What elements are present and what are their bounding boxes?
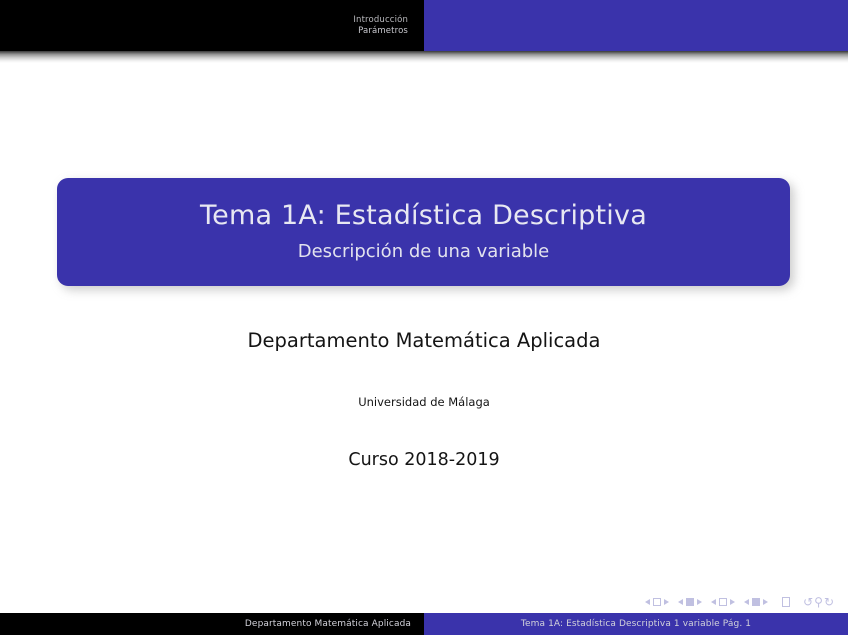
forward-arrow-icon[interactable]: ↻: [824, 596, 834, 608]
footline-bar: Departamento Matemática Aplicada Tema 1A…: [0, 613, 848, 635]
left-arrow-icon[interactable]: [645, 599, 650, 605]
subsection-square-icon[interactable]: [752, 598, 760, 606]
institute-name: Universidad de Málaga: [0, 394, 848, 410]
search-icon[interactable]: ⚲: [814, 596, 823, 608]
footline-author-panel: Departamento Matemática Aplicada: [0, 613, 424, 635]
headline-accent-panel: [424, 0, 848, 51]
title-box: Tema 1A: Estadística Descriptiva Descrip…: [57, 178, 790, 286]
course-date: Curso 2018-2019: [0, 448, 848, 472]
slide-square-filled-icon[interactable]: [686, 598, 694, 606]
frame-square-icon[interactable]: [719, 598, 727, 606]
headline-section-introduccion[interactable]: Introducción: [353, 15, 408, 26]
author-name: Departamento Matemática Aplicada: [0, 328, 848, 354]
back-arrow-icon[interactable]: ↺: [803, 596, 813, 608]
right-arrow-icon[interactable]: [664, 599, 669, 605]
footline-title-text: Tema 1A: Estadística Descriptiva 1 varia…: [521, 619, 751, 629]
slide-square-icon[interactable]: [653, 598, 661, 606]
headline-shadow: [0, 51, 848, 63]
headline-bar: Introducción Parámetros: [0, 0, 848, 51]
footline-title-panel: Tema 1A: Estadística Descriptiva 1 varia…: [424, 613, 848, 635]
document-icon[interactable]: [782, 597, 790, 607]
nav-group-subsections[interactable]: [744, 598, 768, 606]
page-subtitle: Descripción de una variable: [298, 239, 549, 265]
navigation-symbols[interactable]: ↺ ⚲ ↻: [645, 596, 834, 608]
right-arrow-icon[interactable]: [730, 599, 735, 605]
nav-group-slides-second[interactable]: [678, 598, 702, 606]
nav-arc-group[interactable]: ↺ ⚲ ↻: [803, 596, 834, 608]
left-arrow-icon[interactable]: [711, 599, 716, 605]
right-arrow-icon[interactable]: [763, 599, 768, 605]
author-block: Departamento Matemática Aplicada Univers…: [0, 328, 848, 472]
nav-group-frames[interactable]: [711, 598, 735, 606]
nav-group-slides-first[interactable]: [645, 598, 669, 606]
footline-author-text: Departamento Matemática Aplicada: [245, 619, 411, 629]
headline-section-list: Introducción Parámetros: [0, 0, 424, 51]
page-title: Tema 1A: Estadística Descriptiva: [200, 199, 647, 233]
left-arrow-icon[interactable]: [744, 599, 749, 605]
right-arrow-icon[interactable]: [697, 599, 702, 605]
left-arrow-icon[interactable]: [678, 599, 683, 605]
headline-section-parametros[interactable]: Parámetros: [358, 26, 408, 37]
